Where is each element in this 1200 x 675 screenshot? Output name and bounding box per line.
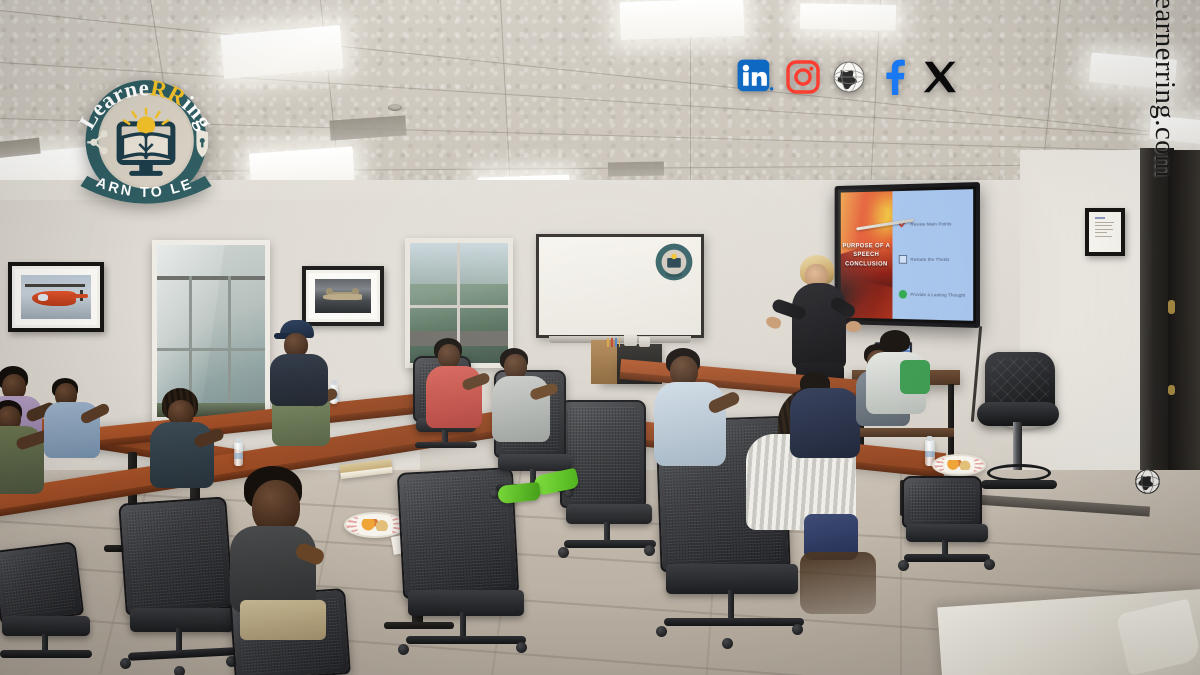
supply-cup <box>624 334 637 346</box>
student <box>494 348 570 448</box>
window-mullion <box>157 348 265 351</box>
ceiling-air-vent <box>608 162 664 177</box>
social-icon-bar <box>736 58 958 96</box>
stool-cylinder <box>1013 422 1022 470</box>
slide-bullet-text: Restate the Thesis <box>910 256 949 261</box>
slide-title-line: PURPOSE OF A <box>842 241 890 250</box>
student-torso <box>150 422 214 488</box>
linkedin-icon[interactable] <box>736 58 774 96</box>
document-icon <box>898 255 906 264</box>
student-torso <box>270 354 328 406</box>
whiteboard <box>536 234 704 338</box>
student-torso <box>654 382 726 466</box>
presenter-torso <box>792 283 846 369</box>
website-watermark: www.learnerring.com <box>1148 0 1181 178</box>
facebook-icon[interactable] <box>877 58 911 96</box>
window-rail <box>157 276 265 280</box>
student <box>46 378 120 464</box>
photo-content <box>315 279 371 313</box>
slide-bullet: Provide a Lasting Thought <box>898 289 967 299</box>
supply-cup <box>639 337 650 347</box>
slide: PURPOSE OF A SPEECH CONCLUSION Review Ma… <box>841 189 973 321</box>
ceiling-light-panel <box>800 3 896 31</box>
x-twitter-icon[interactable] <box>922 59 958 95</box>
instagram-icon[interactable] <box>785 59 821 95</box>
whiteboard-logo <box>654 242 694 282</box>
task-chair[interactable] <box>0 546 116 675</box>
slide-bullet-text: Provide a Lasting Thought <box>910 291 965 297</box>
student-leg <box>800 552 876 614</box>
slide-bullet-text: Review Main Points <box>910 221 951 226</box>
globe-icon <box>1134 468 1161 495</box>
window-mullion <box>410 305 508 308</box>
framed-certificate <box>1085 208 1125 256</box>
student-head <box>438 344 460 368</box>
helicopter-image <box>21 275 91 319</box>
student <box>652 348 744 468</box>
student-torso <box>790 388 860 458</box>
framed-photo-osprey <box>302 266 384 326</box>
drafting-stool[interactable] <box>975 352 1061 522</box>
door-hinge-icon <box>1168 385 1175 395</box>
pencil-cup <box>607 338 620 347</box>
certificate-content <box>1089 212 1121 252</box>
student <box>428 338 500 434</box>
sheet-fold <box>1116 599 1200 675</box>
globe-icon[interactable] <box>832 60 866 94</box>
door-hinge-icon <box>1168 300 1175 314</box>
osprey-image <box>315 279 371 313</box>
framed-photo-helicopter <box>8 262 104 332</box>
photo-canvas: PURPOSE OF A SPEECH CONCLUSION Review Ma… <box>0 0 1200 675</box>
student-sleeve <box>900 360 930 394</box>
slide-bullet-panel: Review Main Points Restate the Thesis Pr… <box>892 189 973 321</box>
student-shorts <box>240 600 326 640</box>
slide-bullet: Restate the Thesis <box>898 255 967 264</box>
green-dot-icon <box>898 289 906 298</box>
ceiling-light-panel <box>619 0 744 40</box>
photo-content <box>21 275 91 319</box>
student-hair <box>880 330 910 352</box>
stool-base <box>981 480 1057 489</box>
student <box>858 330 938 430</box>
student <box>272 320 348 406</box>
learnerring-logo: LearneRRing LEARN TO LEAD <box>62 60 230 228</box>
smoke-detector-icon <box>388 104 402 111</box>
